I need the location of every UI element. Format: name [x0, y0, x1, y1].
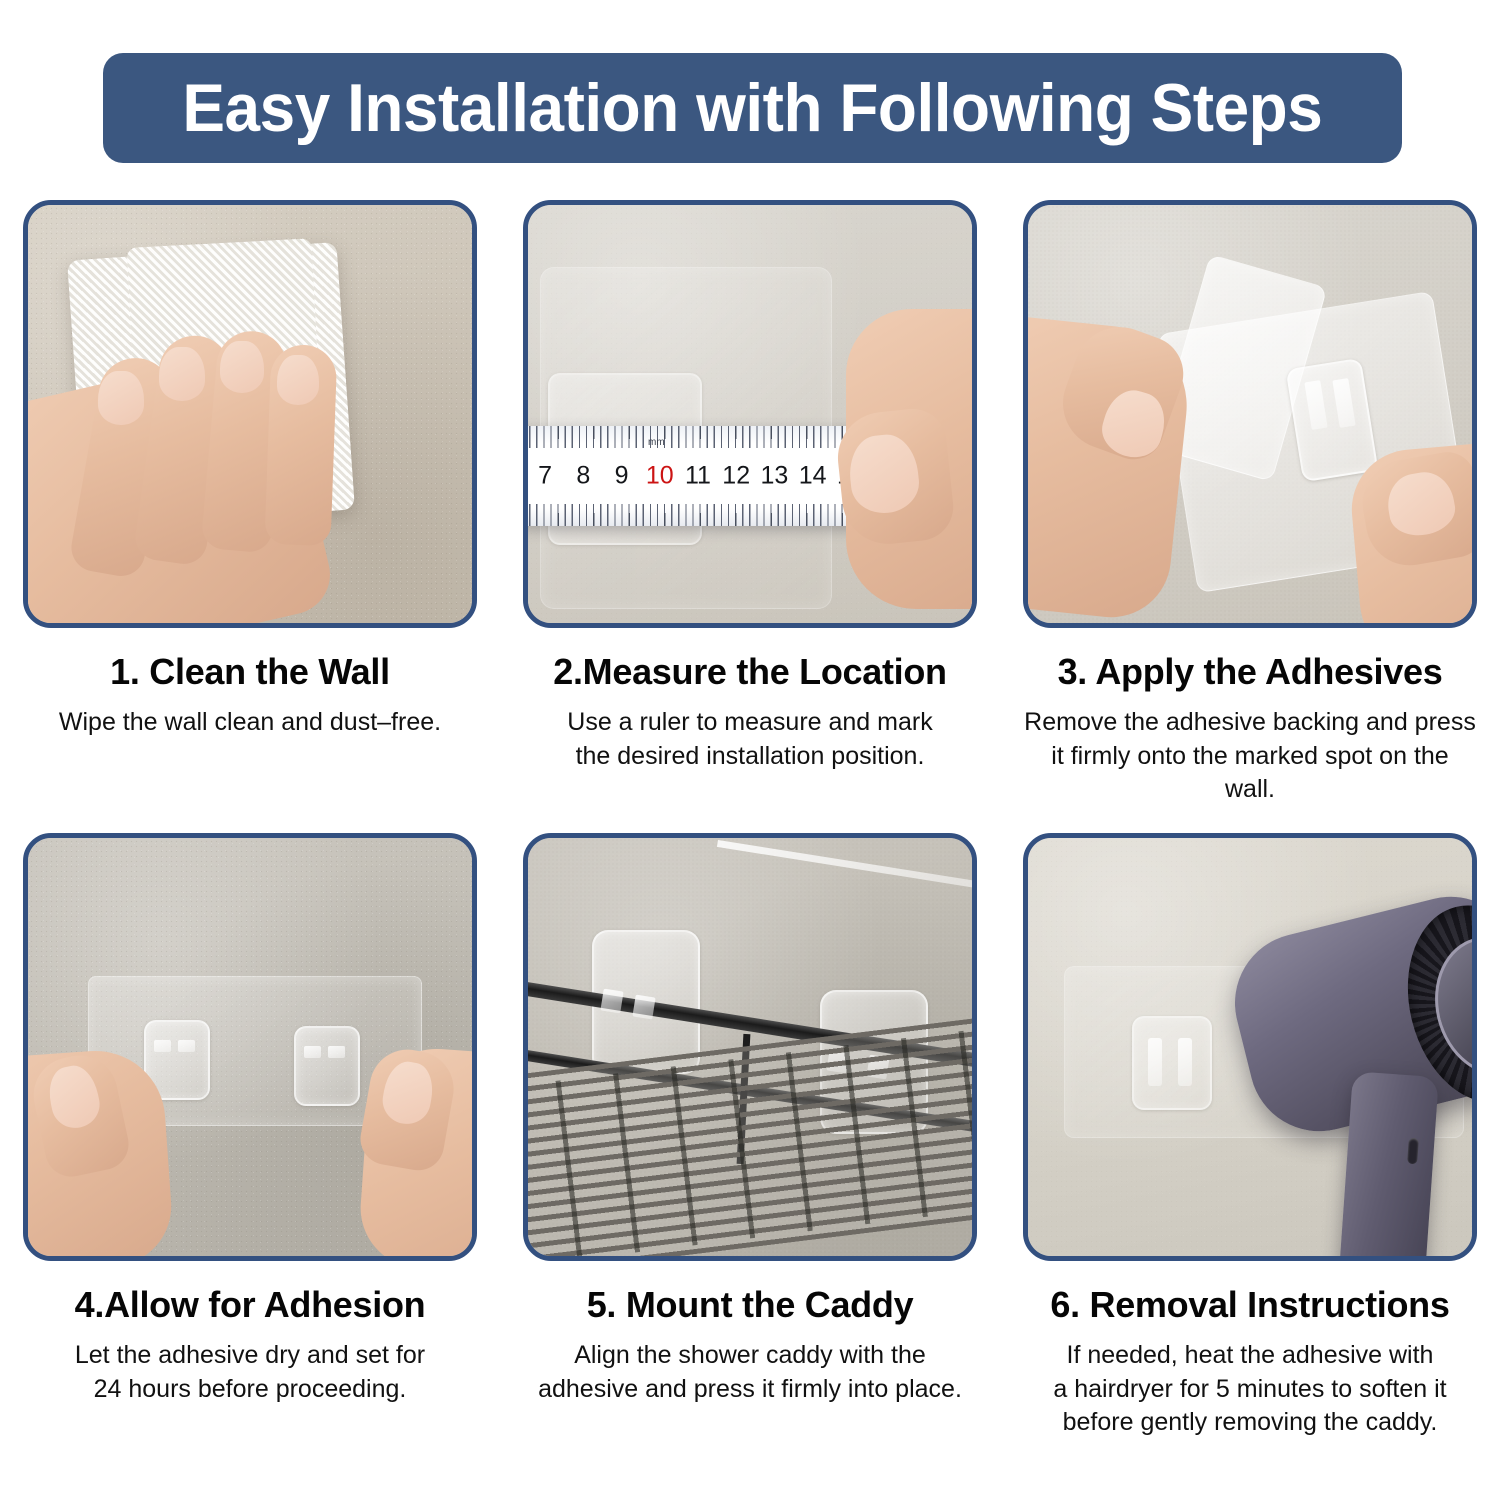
desc-line: adhesive and press it firmly into place.: [538, 1375, 962, 1403]
desc-line: before gently removing the caddy.: [1063, 1408, 1438, 1436]
hook-clip-graphic: [600, 988, 623, 1013]
step-title-6: 6. Removal Instructions: [1050, 1285, 1449, 1325]
ruler-graphic: mm 7 8 9 10 11 12 13 14 15: [528, 426, 874, 526]
step-card-2: mm 7 8 9 10 11 12 13 14 15: [500, 200, 1000, 807]
desc-line: Remove the adhesive backing and press: [1024, 708, 1476, 736]
step-card-5: 5. Mount the Caddy Align the shower cadd…: [500, 833, 1000, 1440]
step-photo-2: mm 7 8 9 10 11 12 13 14 15: [523, 200, 977, 628]
hook-clip-graphic: [178, 1040, 195, 1052]
step-title-5: 5. Mount the Caddy: [587, 1285, 914, 1325]
step-description-2: Use a ruler to measure and mark the desi…: [567, 706, 932, 773]
step-photo-4: [23, 833, 477, 1261]
desc-line: 24 hours before proceeding.: [94, 1375, 407, 1403]
step-description-4: Let the adhesive dry and set for 24 hour…: [75, 1339, 425, 1406]
hook-clip-graphic: [328, 1046, 345, 1058]
step-photo-6: [1023, 833, 1477, 1261]
ruler-unit-label: mm: [648, 437, 665, 448]
step-photo-3: [1023, 200, 1477, 628]
ruler-scale: 7 8 9 10 11 12 13 14 15: [528, 464, 874, 489]
step-title-1: 1. Clean the Wall: [110, 652, 390, 692]
desc-line: it firmly onto the marked spot on the wa…: [1051, 742, 1448, 804]
fingernail-graphic: [220, 341, 264, 393]
ruler-mark: 8: [564, 464, 602, 489]
step-title-4: 4.Allow for Adhesion: [75, 1285, 426, 1325]
ruler-mark: 12: [717, 464, 755, 489]
step-card-1: 1. Clean the Wall Wipe the wall clean an…: [0, 200, 500, 807]
fingernail-graphic: [159, 347, 205, 401]
ruler-mark: 7: [528, 464, 564, 489]
page-title: Easy Installation with Following Steps: [183, 74, 1323, 142]
steps-grid: 1. Clean the Wall Wipe the wall clean an…: [0, 200, 1500, 1440]
ruler-mark: 14: [794, 464, 832, 489]
desc-line: a hairdryer for 5 minutes to soften it: [1053, 1375, 1446, 1403]
ruler-mark: 13: [755, 464, 793, 489]
hook-pad-graphic: [1132, 1016, 1212, 1110]
hook-clip-graphic: [154, 1040, 171, 1052]
step-description-3: Remove the adhesive backing and press it…: [1024, 706, 1476, 807]
fingernail-graphic: [277, 355, 319, 405]
hook-pad-graphic: [294, 1026, 360, 1106]
step-card-6: 6. Removal Instructions If needed, heat …: [1000, 833, 1500, 1440]
hook-clip-graphic: [304, 1046, 321, 1058]
desc-line: Align the shower caddy with the: [574, 1341, 926, 1369]
desc-line: Let the adhesive dry and set for: [75, 1341, 425, 1369]
infographic-page: Easy Installation with Following Steps: [0, 0, 1500, 1500]
desc-line: Use a ruler to measure and mark: [567, 708, 932, 736]
step-title-3: 3. Apply the Adhesives: [1058, 652, 1443, 692]
step-photo-5: [523, 833, 977, 1261]
step-description-1: Wipe the wall clean and dust–free.: [59, 706, 441, 740]
step-photo-1: [23, 200, 477, 628]
desc-line: the desired installation position.: [576, 742, 925, 770]
step-title-2: 2.Measure the Location: [553, 652, 947, 692]
ruler-mark: 9: [602, 464, 640, 489]
header-banner: Easy Installation with Following Steps: [103, 53, 1402, 163]
ruler-mark: 11: [679, 464, 717, 489]
step-description-5: Align the shower caddy with the adhesive…: [538, 1339, 962, 1406]
hook-clip-graphic: [632, 994, 655, 1019]
ruler-mark-highlighted: 10: [641, 464, 679, 489]
step-card-4: 4.Allow for Adhesion Let the adhesive dr…: [0, 833, 500, 1440]
hairdryer-button-graphic: [1407, 1137, 1419, 1164]
desc-line: If needed, heat the adhesive with: [1067, 1341, 1434, 1369]
hook-clip-graphic: [1148, 1038, 1162, 1086]
step-description-6: If needed, heat the adhesive with a hair…: [1053, 1339, 1446, 1440]
hairdryer-handle-graphic: [1339, 1071, 1439, 1256]
hook-clip-graphic: [1178, 1038, 1192, 1086]
step-card-3: 3. Apply the Adhesives Remove the adhesi…: [1000, 200, 1500, 807]
fingernail-graphic: [98, 371, 144, 425]
